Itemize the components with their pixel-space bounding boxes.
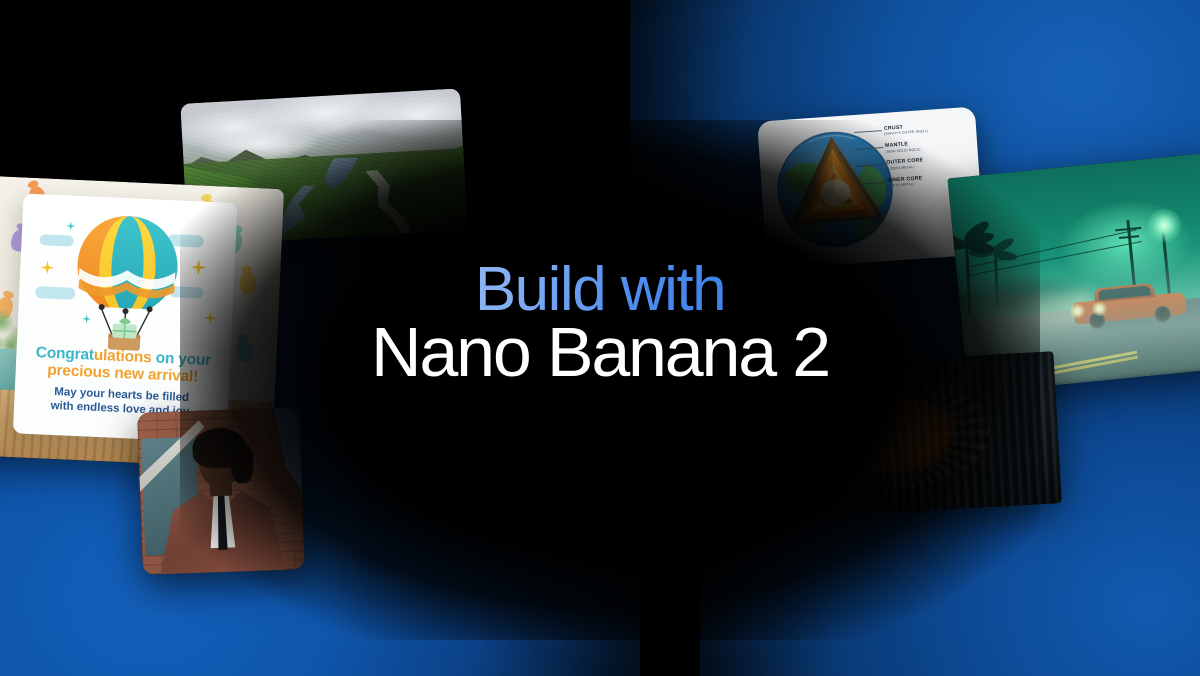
footprint-icon <box>0 191 1 216</box>
earth-label-mantle: MANTLE (SEMI-SOLID ROCK) <box>885 138 972 154</box>
cloud-icon <box>39 234 73 247</box>
image-card-man-in-suit-portrait[interactable] <box>137 407 305 575</box>
earth-globe-illustration <box>768 122 902 256</box>
greeting-card-headline: Congratulations on your precious new arr… <box>15 343 230 387</box>
image-card-flower-behind-fluted-glass[interactable] <box>716 351 1062 522</box>
sparkle-icon <box>190 259 207 276</box>
hot-air-balloon-illustration <box>66 210 188 355</box>
footprint-icon <box>239 271 256 294</box>
earth-label-crust: CRUST (EARTH'S OUTER SHELL) <box>884 121 971 137</box>
greeting-card-face: Congratulations on your precious new arr… <box>13 193 238 442</box>
palm-frond <box>969 248 993 257</box>
headline-line-build-with: Build with <box>475 258 725 321</box>
hero-stage: CRUST (EARTH'S OUTER SHELL) MANTLE (SEMI… <box>0 0 1200 676</box>
flower-vignette <box>716 351 1062 522</box>
greeting-headline-part1: Congrat <box>35 344 94 364</box>
sparkle-icon <box>40 260 55 275</box>
sparkle-icon <box>66 221 75 230</box>
portrait-hair-locs <box>192 427 247 469</box>
footprint-icon <box>235 339 254 363</box>
sparkle-icon <box>204 312 217 325</box>
earth-label-outer-core: OUTER CORE (LIQUID METAL) <box>886 155 973 171</box>
sparkle-icon <box>82 314 91 323</box>
